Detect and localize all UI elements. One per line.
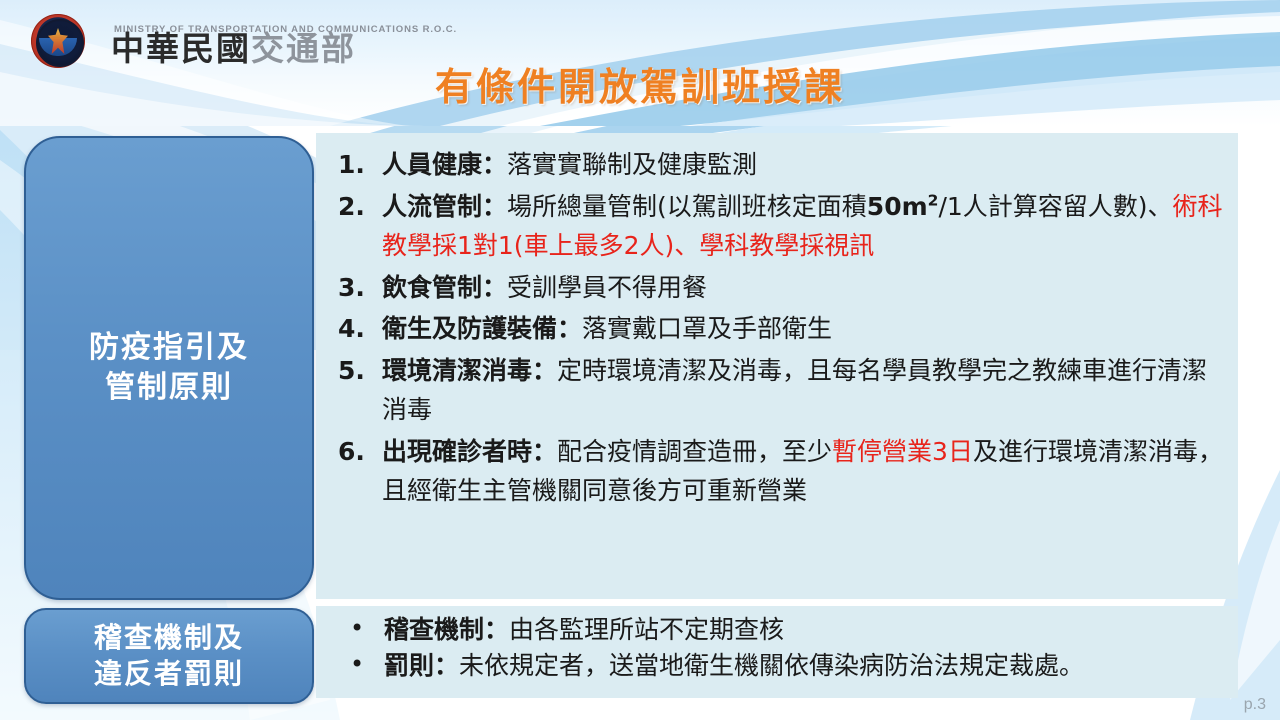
guideline-item-4: 衛生及防護裝備：落實戴口罩及手部衛生: [324, 309, 1228, 349]
sidebar-tab-prevention-line2: 管制原則: [89, 368, 249, 408]
guidelines-list: 人員健康：落實實聯制及健康監測 人流管制：場所總量管制(以駕訓班核定面積50m2…: [316, 133, 1238, 511]
guideline-2-area-superscript: 2: [928, 191, 939, 209]
guideline-3-colon: ：: [482, 273, 507, 302]
guideline-1-colon: ：: [482, 150, 507, 179]
guideline-2-label: 人流管制: [382, 192, 482, 221]
enforcement-2-label: 罰則: [384, 651, 434, 680]
guideline-4-label: 衛生及防護裝備: [382, 314, 557, 343]
guideline-4-colon: ：: [557, 314, 582, 343]
enforcement-2-colon: ：: [434, 651, 459, 680]
enforcement-1-text: 由各監理所站不定期查核: [509, 615, 784, 644]
enforcement-list: 稽查機制：由各監理所站不定期查核 罰則：未依規定者，送當地衛生機關依傳染病防治法…: [316, 606, 1238, 683]
guideline-3-text: 受訓學員不得用餐: [507, 273, 707, 302]
guideline-4-text: 落實戴口罩及手部衛生: [582, 314, 832, 343]
page-number: p.3: [1244, 696, 1266, 714]
guideline-2-area-value: 50m: [867, 192, 928, 221]
guideline-5-label: 環境清潔消毒: [382, 356, 532, 385]
guideline-2-text-part1: 場所總量管制(以駕訓班核定面積: [507, 192, 867, 221]
guidelines-panel: 人員健康：落實實聯制及健康監測 人流管制：場所總量管制(以駕訓班核定面積50m2…: [316, 133, 1238, 599]
guideline-2-text-part2: /1人計算容留人數)、: [938, 192, 1172, 221]
guideline-6-text-part1: 配合疫情調查造冊，至少: [557, 437, 832, 466]
guideline-3-label: 飲食管制: [382, 273, 482, 302]
enforcement-panel: 稽查機制：由各監理所站不定期查核 罰則：未依規定者，送當地衛生機關依傳染病防治法…: [316, 606, 1238, 698]
sidebar-tab-prevention-guidelines[interactable]: 防疫指引及 管制原則: [24, 136, 314, 600]
enforcement-item-2: 罰則：未依規定者，送當地衛生機關依傳染病防治法規定裁處。: [342, 648, 1228, 684]
guideline-2-colon: ：: [482, 192, 507, 221]
guideline-item-3: 飲食管制：受訓學員不得用餐: [324, 268, 1228, 308]
guideline-1-label: 人員健康: [382, 150, 482, 179]
guideline-1-text: 落實實聯制及健康監測: [507, 150, 757, 179]
guideline-item-5: 環境清潔消毒：定時環境清潔及消毒，且每名學員教學完之教練車進行清潔消毒: [324, 351, 1228, 430]
sidebar-tab-enforcement-line1: 稽查機制及: [94, 620, 244, 656]
enforcement-1-label: 稽查機制: [384, 615, 484, 644]
guideline-6-colon: ：: [532, 437, 557, 466]
enforcement-2-text: 未依規定者，送當地衛生機關依傳染病防治法規定裁處。: [459, 651, 1084, 680]
guideline-item-6: 出現確診者時：配合疫情調查造冊，至少暫停營業3日及進行環境清潔消毒，且經衛生主管…: [324, 432, 1228, 511]
guideline-5-colon: ：: [532, 356, 557, 385]
enforcement-item-1: 稽查機制：由各監理所站不定期查核: [342, 612, 1228, 648]
guideline-item-2: 人流管制：場所總量管制(以駕訓班核定面積50m2/1人計算容留人數)、術科教學採…: [324, 187, 1228, 266]
guideline-item-1: 人員健康：落實實聯制及健康監測: [324, 145, 1228, 185]
enforcement-1-colon: ：: [484, 615, 509, 644]
slide-root: MINISTRY OF TRANSPORTATION AND COMMUNICA…: [0, 0, 1280, 720]
page-title: 有條件開放駕訓班授課: [0, 56, 1280, 111]
sidebar-tab-enforcement[interactable]: 稽查機制及 違反者罰則: [24, 608, 314, 704]
guideline-6-red-text: 暫停營業3日: [832, 437, 973, 466]
sidebar-tab-prevention-line1: 防疫指引及: [89, 328, 249, 368]
sidebar-tab-enforcement-line2: 違反者罰則: [94, 656, 244, 692]
slide-header: MINISTRY OF TRANSPORTATION AND COMMUNICA…: [0, 0, 1280, 126]
guideline-6-label: 出現確診者時: [382, 437, 532, 466]
